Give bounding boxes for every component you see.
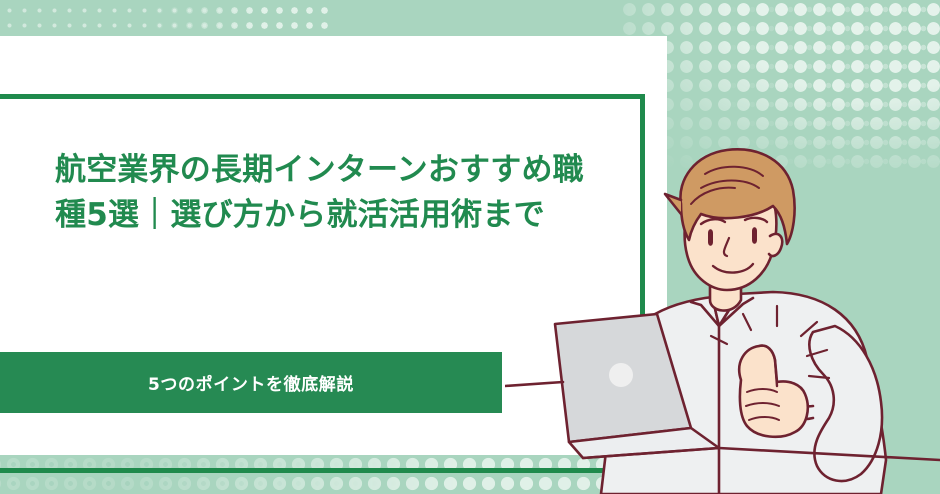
thumbnail-canvas: 航空業界の長期インターンおすすめ職種5選｜選び方から就活活用術まで 5つのポイン…	[0, 0, 940, 494]
subtitle-banner: 5つのポイントを徹底解説	[0, 352, 502, 413]
illustration-businessman-thumbs-up	[505, 130, 940, 494]
subtitle-label: 5つのポイントを徹底解説	[148, 370, 354, 395]
